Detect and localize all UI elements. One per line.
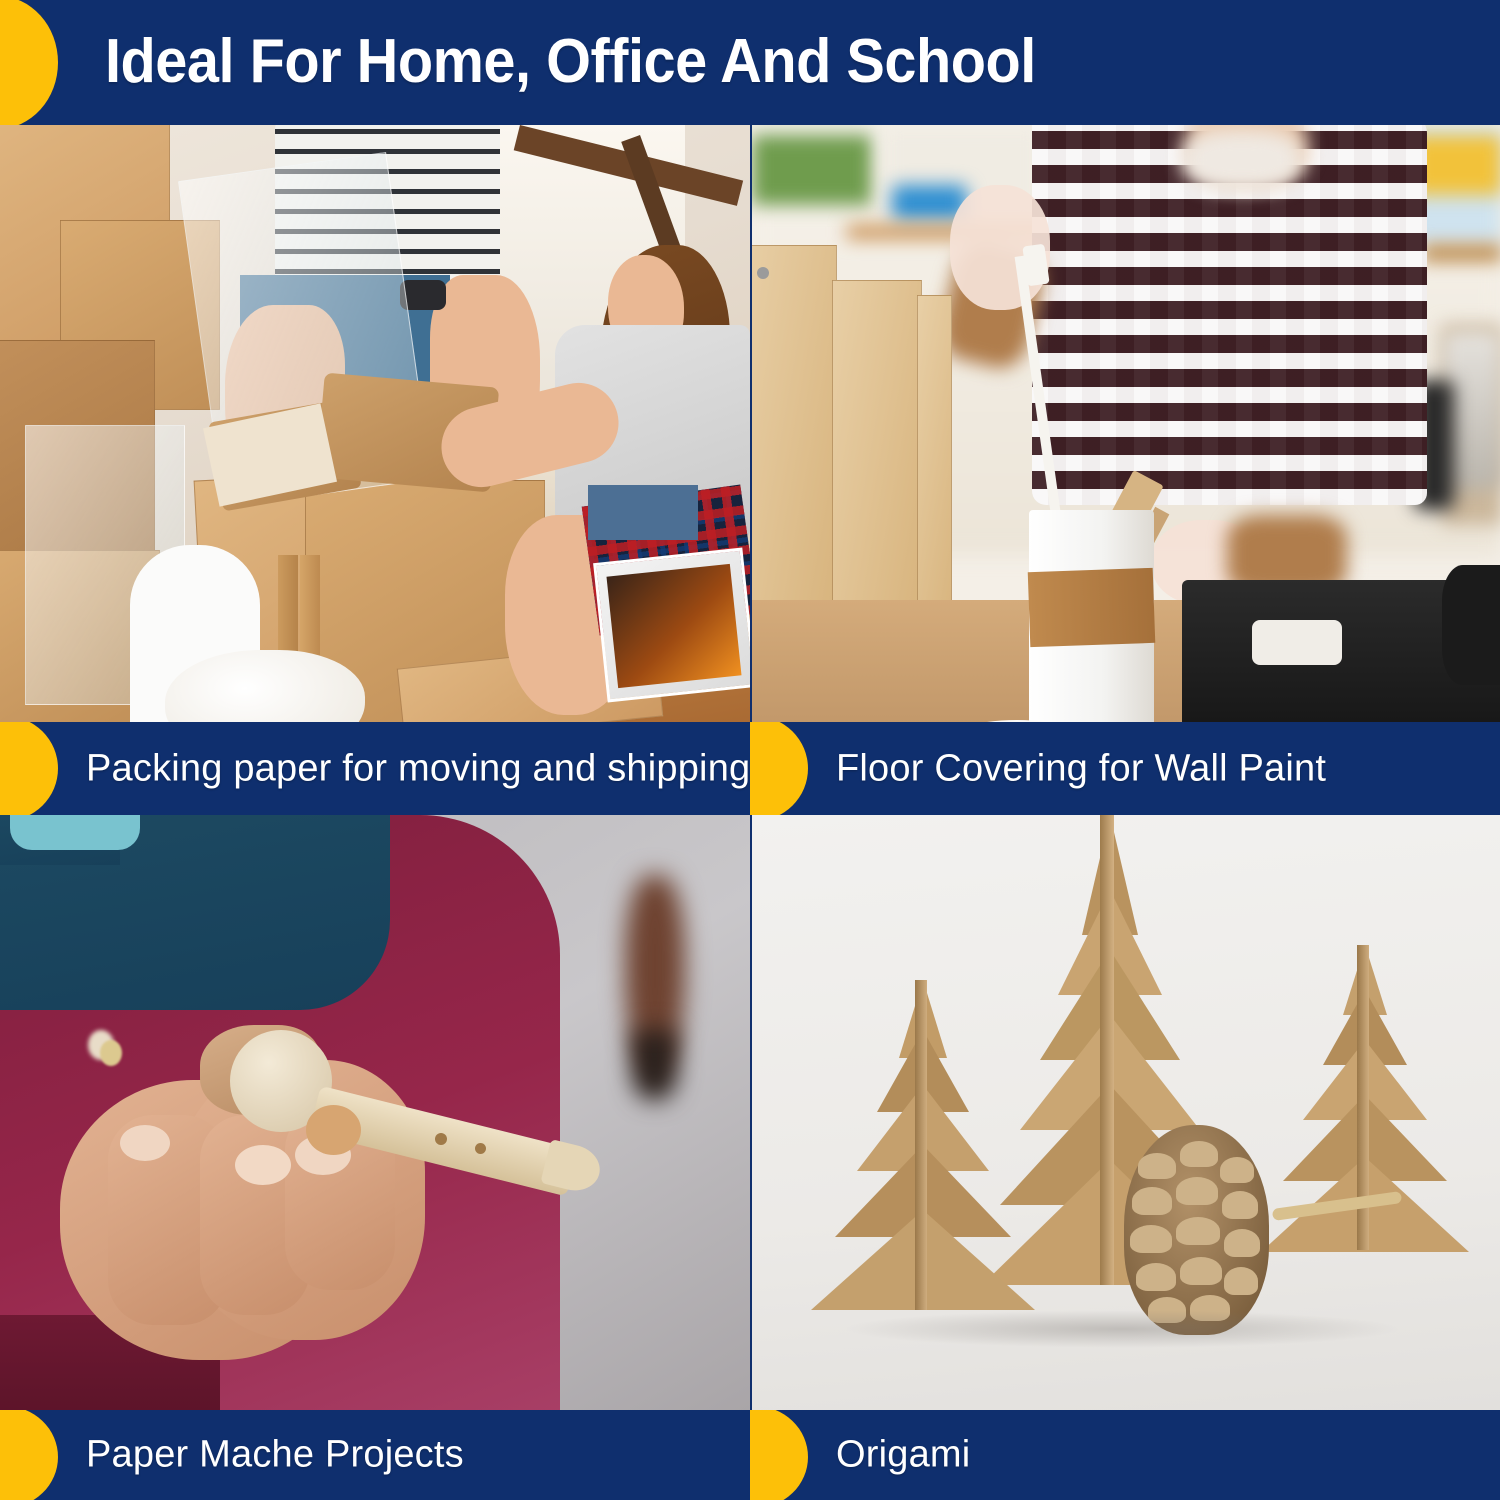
image-packing <box>0 125 750 722</box>
yellow-semicircle-accent-icon <box>0 722 58 815</box>
image-paper-mache <box>0 815 750 1410</box>
caption-label-origami: Origami <box>836 1434 970 1477</box>
yellow-semicircle-accent-icon <box>750 1410 808 1500</box>
caption-bar-origami: Origami <box>750 1410 1500 1500</box>
caption-label-packing: Packing paper for moving and shipping <box>86 747 750 790</box>
yellow-semicircle-accent-icon <box>0 1410 58 1500</box>
caption-bar-floor-covering: Floor Covering for Wall Paint <box>750 722 1500 815</box>
yellow-semicircle-accent-icon <box>750 722 808 815</box>
image-origami <box>752 815 1500 1410</box>
yellow-semicircle-accent-icon <box>0 0 58 125</box>
caption-label-paper-mache: Paper Mache Projects <box>86 1434 464 1477</box>
header-banner: Ideal For Home, Office And School <box>0 0 1500 125</box>
page-title: Ideal For Home, Office And School <box>105 22 1036 102</box>
image-floor-covering <box>752 125 1500 722</box>
caption-label-floor-covering: Floor Covering for Wall Paint <box>836 747 1326 790</box>
caption-bar-paper-mache: Paper Mache Projects <box>0 1410 750 1500</box>
caption-bar-packing: Packing paper for moving and shipping <box>0 722 750 815</box>
